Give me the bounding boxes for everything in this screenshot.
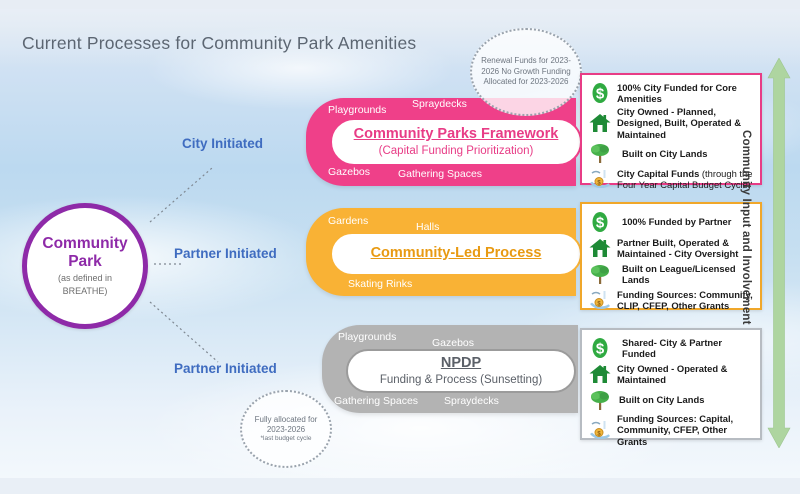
panel-row-text: 100% Funded by Partner [622,216,731,227]
info-panel-npdp: $ Shared- City & Partner Funded City Own… [580,328,762,440]
svg-text:$: $ [596,215,605,232]
npdp-title: NPDP [441,355,481,372]
money-icon: $ [587,335,613,361]
info-panel-cpf: $ 100% City Funded for Core Amenities Ci… [580,73,762,185]
panel-row-text: Funding Sources: Capital, Community, CFE… [617,413,756,447]
panel-row: Built on League/Licensed Lands [587,261,756,287]
panel-row: $ 100% Funded by Partner [587,209,756,235]
hand-coin-icon: $ [587,417,613,443]
note-fully-allocated-footnote: *last budget cycle [255,435,318,443]
initiator-label-partner-2: Partner Initiated [174,361,277,376]
note-fully-allocated: Fully allocated for 2023-2026 *last budg… [240,390,332,468]
panel-row: $ Shared- City & Partner Funded [587,335,756,361]
house-icon [587,235,613,261]
tree-icon [587,261,613,287]
panel-row: Built on City Lands [587,387,756,413]
house-icon [587,361,613,387]
involvement-axis-arrow [766,58,792,448]
house-icon [587,110,613,136]
npdp-amenity-top-right: Gazebos [432,337,474,349]
community-park-line1: Community [42,235,127,252]
cpf-pill[interactable]: Community Parks Framework (Capital Fundi… [330,118,582,166]
panel-row-text: Built on City Lands [622,148,707,159]
clp-title: Community-Led Process [371,245,542,262]
cpf-amenity-top-right: Spraydecks [412,98,467,110]
npdp-pill[interactable]: NPDP Funding & Process (Sunsetting) [346,349,576,393]
slide-canvas: Current Processes for Community Park Ame… [0,0,800,494]
clp-amenity-bottom-left: Skating Rinks [348,278,412,290]
cpf-amenity-top-left: Playgrounds [328,104,386,116]
note-renewal-funds: Renewal Funds for 2023-2026 No Growth Fu… [470,28,582,116]
npdp-amenity-top-left: Playgrounds [338,331,396,343]
initiator-label-partner-1: Partner Initiated [174,246,277,261]
community-park-sub2: BREATHE) [63,286,108,296]
initiator-label-city: City Initiated [182,136,263,151]
involvement-axis-label: Community Input and Involvement [736,130,752,325]
npdp-subtitle: Funding & Process (Sunsetting) [380,373,542,387]
page-title: Current Processes for Community Park Ame… [22,33,416,54]
panel-row: Partner Built, Operated & Maintained - C… [587,235,756,261]
hand-coin-icon: $ [587,287,613,313]
panel-row: $ 100% City Funded for Core Amenities [587,80,756,106]
tree-icon [587,387,613,413]
note-renewal-text: Renewal Funds for 2023-2026 No Growth Fu… [472,56,580,87]
process-row-npdp: Playgrounds Gazebos Gathering Spaces Spr… [322,325,578,413]
bottom-frame-band [0,478,800,494]
community-park-line2: Park [68,253,102,270]
panel-row: $ Funding Sources: Capital, Community, C… [587,413,756,447]
community-park-sub1: (as defined in [58,273,112,283]
cpf-subtitle: (Capital Funding Prioritization) [379,144,534,158]
svg-text:$: $ [596,341,605,358]
note-fully-allocated-text: Fully allocated for 2023-2026 [242,415,330,436]
cpf-amenity-bottom-left: Gazebos [328,166,370,178]
panel-row: $ City Capital Funds (through the Four Y… [587,166,756,192]
tree-icon [587,140,613,166]
cpf-amenity-bottom-right: Gathering Spaces [398,168,482,180]
community-park-node[interactable]: Community Park (as defined in BREATHE) [22,203,148,329]
hand-coin-icon: $ [587,166,613,192]
svg-text:$: $ [596,86,605,103]
clp-amenity-top-left: Gardens [328,215,368,227]
panel-row-text: Built on City Lands [619,394,704,405]
panel-row: City Owned - Planned, Designed, Built, O… [587,106,756,140]
clp-pill[interactable]: Community-Led Process [330,232,582,276]
top-frame-band [0,0,800,9]
money-icon: $ [587,209,613,235]
npdp-amenity-bottom-left: Gathering Spaces [334,395,418,407]
panel-row: $ Funding Sources: Community, CLIP, CFEP… [587,287,756,313]
panel-row-text: City Owned - Operated & Maintained [617,363,756,386]
info-panel-clp: $ 100% Funded by Partner Partner Built, … [580,202,762,310]
panel-row: City Owned - Operated & Maintained [587,361,756,387]
money-icon: $ [587,80,613,106]
panel-row-text: Shared- City & Partner Funded [622,337,756,360]
npdp-amenity-bottom-right: Spraydecks [444,395,499,407]
panel-row: Built on City Lands [587,140,756,166]
cpf-title: Community Parks Framework [354,126,559,143]
panel-row-text: 100% City Funded for Core Amenities [617,82,756,105]
process-row-clp: Gardens Halls Skating Rinks Community-Le… [306,208,576,296]
